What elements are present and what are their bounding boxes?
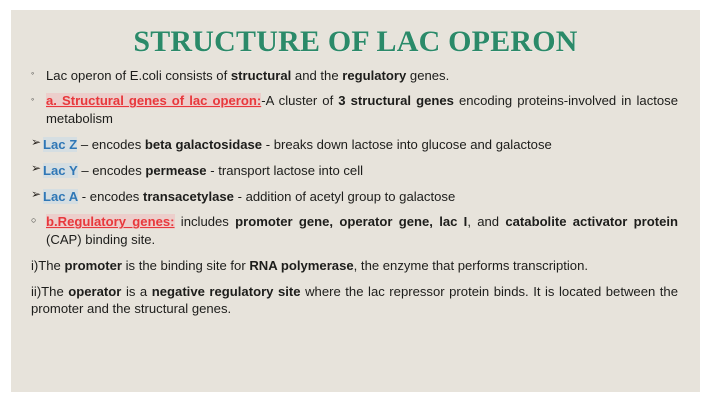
list-item-text: a. Structural genes of lac operon:-A clu…	[46, 92, 678, 127]
list-item-text: Lac Z – encodes beta galactosidase - bre…	[43, 136, 678, 153]
promoter-para-bold-1: promoter	[64, 258, 121, 273]
regulatory-genes-text-5: (CAP) binding site.	[46, 232, 155, 247]
promoter-para-text-0: i)The	[31, 258, 64, 273]
list-item-text: b.Regulatory genes: includes promoter ge…	[46, 213, 678, 248]
operator-para-text-0: ii)The	[31, 284, 68, 299]
lac-z-gene-label-0: Lac Z	[43, 137, 77, 152]
lac-y-text-3: - transport lactose into cell	[207, 163, 363, 178]
list-item-text: Lac operon of E.coli consists of structu…	[46, 67, 678, 84]
lac-z-bold-2: beta galactosidase	[145, 137, 262, 152]
list-item-text: Lac A - encodes transacetylase - additio…	[43, 188, 678, 205]
promoter-para-text-2: is the binding site for	[122, 258, 249, 273]
paragraph-promoter-para: i)The promoter is the binding site for R…	[31, 257, 678, 274]
arrow-bullet-icon: ➢	[31, 187, 46, 203]
slide-body: ◦Lac operon of E.coli consists of struct…	[11, 58, 700, 318]
lac-a-bold-2: transacetylase	[143, 189, 234, 204]
list-item-lac-y: ➢Lac Y – encodes permease - transport la…	[31, 162, 678, 179]
intro-text-0: Lac operon of E.coli consists of	[46, 68, 231, 83]
regulatory-genes-heading-0: b.Regulatory genes:	[46, 214, 175, 229]
hollow-bullet-icon: ◦	[31, 94, 46, 106]
regulatory-genes-text-1: includes	[175, 214, 236, 229]
hollow-bullet-icon: ◦	[31, 68, 46, 80]
arrow-bullet-icon: ➢	[31, 135, 46, 151]
arrow-bullet-icon: ➢	[31, 161, 46, 177]
intro-bold-1: structural	[231, 68, 291, 83]
lac-z-text-3: - breaks down lactose into glucose and g…	[262, 137, 552, 152]
lac-y-text-1: – encodes	[78, 163, 146, 178]
operator-para-bold-1: operator	[68, 284, 121, 299]
regulatory-genes-bold-4: catabolite activator protein	[505, 214, 678, 229]
intro-bold-3: regulatory	[342, 68, 406, 83]
bullet-list: ◦Lac operon of E.coli consists of struct…	[31, 67, 678, 249]
structural-genes-heading-0: a. Structural genes of lac operon:	[46, 93, 261, 108]
list-item-intro: ◦Lac operon of E.coli consists of struct…	[31, 67, 678, 84]
operator-para-bold-3: negative regulatory site	[152, 284, 301, 299]
promoter-para-text-4: , the enzyme that performs transcription…	[354, 258, 588, 273]
intro-text-2: and the	[291, 68, 342, 83]
lac-a-gene-label-0: Lac A	[43, 189, 78, 204]
lac-y-bold-2: permease	[145, 163, 206, 178]
structural-genes-bold-2: 3 structural genes	[338, 93, 454, 108]
list-item-lac-z: ➢ Lac Z – encodes beta galactosidase - b…	[31, 136, 678, 153]
regulatory-genes-text-3: , and	[467, 214, 505, 229]
intro-text-4: genes.	[406, 68, 449, 83]
lac-a-text-3: - addition of acetyl group to galactose	[234, 189, 455, 204]
lac-z-text-1: – encodes	[77, 137, 145, 152]
circle-bullet-icon: ○	[31, 215, 46, 227]
paragraph-operator-para: ii)The operator is a negative regulatory…	[31, 283, 678, 318]
list-item-regulatory-genes: ○b.Regulatory genes: includes promoter g…	[31, 213, 678, 248]
operator-para-text-2: is a	[121, 284, 151, 299]
list-item-lac-a: ➢Lac A - encodes transacetylase - additi…	[31, 188, 678, 205]
lac-y-gene-label-0: Lac Y	[43, 163, 78, 178]
promoter-para-bold-3: RNA polymerase	[249, 258, 353, 273]
list-item-text: Lac Y – encodes permease - transport lac…	[43, 162, 678, 179]
lac-a-text-1: - encodes	[78, 189, 143, 204]
structural-genes-text-1: -A cluster of	[261, 93, 338, 108]
slide-panel: STRUCTURE OF LAC OPERON ◦Lac operon of E…	[11, 10, 700, 392]
paragraph-list: i)The promoter is the binding site for R…	[31, 257, 678, 318]
page-title: STRUCTURE OF LAC OPERON	[11, 26, 700, 58]
list-item-structural-genes: ◦a. Structural genes of lac operon:-A cl…	[31, 92, 678, 127]
regulatory-genes-bold-2: promoter gene, operator gene, lac I	[235, 214, 467, 229]
